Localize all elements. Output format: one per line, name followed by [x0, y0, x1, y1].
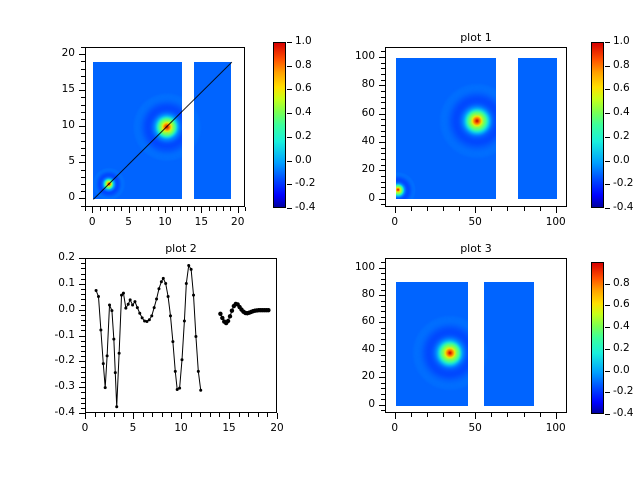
y-tick-minor: [81, 83, 85, 84]
y-tick-major: [379, 350, 385, 351]
y-tick-minor: [381, 361, 385, 362]
x-tick-major: [92, 207, 93, 213]
y-tick-label: 0: [329, 398, 375, 410]
colorbar-tick: [605, 184, 610, 185]
line-marker: [153, 306, 156, 309]
line-marker: [129, 298, 132, 301]
x-tick-minor: [223, 207, 224, 211]
line-marker: [187, 264, 190, 267]
y-tick-minor: [381, 306, 385, 307]
colorbar-tick: [605, 392, 610, 393]
heatmap-block-bottom-right-1: [484, 282, 534, 405]
y-tick-minor: [81, 61, 85, 62]
colorbar-tick-label: 0.8: [295, 59, 312, 71]
x-tick-minor: [171, 413, 172, 417]
x-tick-minor: [524, 413, 525, 417]
line-marker: [183, 320, 186, 323]
y-tick-label: 60: [329, 315, 375, 327]
line-marker: [138, 312, 141, 315]
line-marker: [124, 307, 127, 310]
line-marker: [164, 282, 167, 285]
colorbar-tick: [605, 208, 610, 209]
y-tick-label: 0.1: [29, 277, 75, 289]
colorbar-tick-label: -0.2: [613, 177, 634, 189]
y-tick-major: [79, 126, 85, 127]
x-tick-minor: [114, 413, 115, 417]
heatmap-block-top-left-1: [194, 62, 232, 199]
colorbar-tick: [605, 66, 610, 67]
y-tick-minor: [81, 305, 85, 306]
x-tick-major: [475, 413, 476, 419]
x-tick-minor: [239, 413, 240, 417]
y-tick-label: 0.0: [29, 303, 75, 315]
line-marker: [174, 370, 177, 373]
line-series-canvas: [86, 259, 277, 413]
x-tick-label: 100: [536, 422, 576, 434]
x-tick-minor: [507, 413, 508, 417]
heatmap-block-top-right-0: [396, 58, 496, 200]
colorbar-tick: [605, 305, 610, 306]
x-tick-minor: [143, 207, 144, 211]
y-tick-minor: [381, 273, 385, 274]
line-marker: [104, 386, 107, 389]
y-tick-label: 0: [329, 192, 375, 204]
x-tick-minor: [143, 413, 144, 417]
x-tick-major: [395, 413, 396, 419]
x-tick-minor: [524, 207, 525, 211]
y-tick-label: 20: [329, 163, 375, 175]
colorbar-tick-label: -0.2: [613, 385, 634, 397]
colorbar-tick: [605, 327, 610, 328]
x-tick-minor: [443, 413, 444, 417]
line-marker: [150, 314, 153, 317]
line-marker: [122, 292, 125, 295]
y-tick-major: [379, 322, 385, 323]
x-tick-minor: [411, 413, 412, 417]
y-tick-minor: [381, 290, 385, 291]
y-tick-minor: [381, 355, 385, 356]
x-tick-minor: [172, 207, 173, 211]
x-tick-minor: [152, 413, 153, 417]
x-tick-minor: [180, 207, 181, 211]
line-marker: [199, 389, 202, 392]
colorbar-tick: [287, 184, 292, 185]
x-tick-minor: [100, 207, 101, 211]
x-tick-minor: [248, 413, 249, 417]
y-tick-minor: [381, 80, 385, 81]
y-tick-minor: [381, 328, 385, 329]
axes-frame-bottom-right: [385, 258, 567, 413]
y-tick-minor: [381, 148, 385, 149]
colorbar-tick-label: 1.0: [295, 35, 312, 47]
colorbar-tick: [605, 113, 610, 114]
x-tick-minor: [194, 207, 195, 211]
line-marker: [131, 303, 134, 306]
colorbar-tick-label: 0.2: [613, 342, 630, 354]
y-tick-minor: [81, 69, 85, 70]
y-tick-label: 20: [329, 370, 375, 382]
line-marker: [181, 358, 184, 361]
y-tick-minor: [81, 206, 85, 207]
colorbar-tick: [287, 208, 292, 209]
y-tick-minor: [381, 108, 385, 109]
y-tick-label: 80: [329, 78, 375, 90]
y-tick-major: [79, 162, 85, 163]
x-tick-minor: [459, 207, 460, 211]
colorbar-tick-label: -0.4: [613, 201, 634, 213]
colorbar-tick: [605, 137, 610, 138]
y-tick-major: [379, 170, 385, 171]
line-marker: [114, 371, 117, 374]
y-tick-label: 80: [329, 288, 375, 300]
y-tick-label: 0.2: [29, 251, 75, 263]
line-marker: [160, 280, 163, 283]
y-tick-minor: [381, 262, 385, 263]
colorbar-tick-label: -0.4: [613, 407, 634, 419]
axes-frame-bottom-left: [85, 258, 277, 413]
axes-frame-top-left: [85, 47, 245, 207]
line-marker: [230, 308, 234, 312]
x-tick-minor: [210, 413, 211, 417]
y-tick-minor: [81, 315, 85, 316]
line-marker: [266, 308, 270, 312]
figure-canvas: 0510152005101520-0.4-0.20.00.20.40.60.81…: [0, 0, 640, 480]
x-tick-minor: [459, 413, 460, 417]
y-tick-minor: [381, 344, 385, 345]
x-tick-minor: [136, 207, 137, 211]
line-marker: [171, 340, 174, 343]
y-tick-minor: [381, 279, 385, 280]
y-tick-label: -0.3: [29, 380, 75, 392]
line-marker: [194, 335, 197, 338]
x-tick-label: 20: [257, 422, 297, 434]
x-tick-major: [238, 207, 239, 213]
x-tick-minor: [187, 207, 188, 211]
x-tick-label: 0: [65, 422, 105, 434]
x-tick-minor: [85, 207, 86, 211]
line-marker: [226, 319, 230, 323]
x-tick-label: 0: [375, 216, 415, 228]
y-tick-minor: [381, 339, 385, 340]
line-marker: [118, 352, 121, 355]
line-marker: [108, 303, 111, 306]
line-marker: [228, 314, 232, 318]
x-tick-minor: [411, 207, 412, 211]
line-marker: [110, 309, 113, 312]
heatmap-block-bottom-right-0: [396, 282, 468, 405]
y-tick-minor: [81, 351, 85, 352]
colorbar-tick-label: 0.0: [295, 154, 312, 166]
colorbar-tick: [605, 349, 610, 350]
y-tick-minor: [381, 366, 385, 367]
y-tick-minor: [81, 367, 85, 368]
y-tick-minor: [381, 131, 385, 132]
y-tick-minor: [381, 97, 385, 98]
y-tick-minor: [381, 165, 385, 166]
x-tick-label: 10: [145, 216, 185, 228]
x-tick-label: 5: [109, 216, 149, 228]
x-tick-minor: [104, 413, 105, 417]
x-tick-minor: [219, 413, 220, 417]
y-tick-major: [379, 377, 385, 378]
y-tick-major: [79, 413, 85, 414]
colorbar-tick-label: 0.4: [613, 320, 630, 332]
x-tick-major: [395, 207, 396, 213]
y-tick-minor: [81, 184, 85, 185]
x-tick-minor: [121, 207, 122, 211]
y-tick-minor: [381, 317, 385, 318]
x-tick-label: 15: [181, 216, 221, 228]
x-tick-minor: [209, 207, 210, 211]
colorbar-top-right: [591, 42, 604, 208]
y-tick-major: [379, 114, 385, 115]
line-marker: [178, 387, 181, 390]
y-tick-minor: [381, 125, 385, 126]
x-tick-major: [229, 413, 230, 419]
y-tick-major: [79, 198, 85, 199]
x-tick-label: 10: [161, 422, 201, 434]
x-tick-major: [201, 207, 202, 213]
y-tick-minor: [81, 119, 85, 120]
y-tick-minor: [381, 187, 385, 188]
y-tick-minor: [81, 268, 85, 269]
y-tick-label: -0.2: [29, 354, 75, 366]
y-tick-minor: [81, 141, 85, 142]
y-tick-major: [379, 85, 385, 86]
x-tick-minor: [540, 413, 541, 417]
y-tick-minor: [381, 410, 385, 411]
line-marker: [197, 370, 200, 373]
line-marker: [155, 298, 158, 301]
y-tick-minor: [81, 372, 85, 373]
colorbar-tick-label: 0.2: [295, 130, 312, 142]
y-tick-minor: [81, 76, 85, 77]
heatmap-background: [518, 58, 557, 200]
y-tick-minor: [381, 91, 385, 92]
y-tick-minor: [81, 398, 85, 399]
y-tick-label: -0.1: [29, 329, 75, 341]
y-tick-minor: [81, 148, 85, 149]
line-marker: [127, 303, 130, 306]
y-tick-label: 40: [329, 343, 375, 355]
colorbar-tick: [605, 161, 610, 162]
y-tick-major: [379, 405, 385, 406]
line-marker: [185, 282, 188, 285]
line-marker: [106, 354, 109, 357]
y-tick-minor: [81, 274, 85, 275]
y-tick-label: 10: [29, 119, 75, 131]
colorbar-tick: [287, 161, 292, 162]
axes-frame-top-right: [385, 47, 567, 207]
x-tick-label: 20: [218, 216, 258, 228]
x-tick-minor: [123, 413, 124, 417]
colorbar-tick: [605, 284, 610, 285]
y-tick-major: [379, 295, 385, 296]
x-tick-major: [277, 413, 278, 419]
y-tick-label: 100: [329, 261, 375, 273]
x-tick-minor: [107, 207, 108, 211]
colorbar-top-left: [273, 42, 286, 208]
y-tick-minor: [81, 356, 85, 357]
y-tick-major: [79, 310, 85, 311]
x-tick-minor: [427, 207, 428, 211]
line-marker: [136, 306, 139, 309]
colorbar-tick: [287, 42, 292, 43]
x-tick-minor: [258, 413, 259, 417]
y-tick-minor: [381, 311, 385, 312]
x-tick-major: [556, 207, 557, 213]
colorbar-tick-label: -0.2: [295, 177, 316, 189]
y-tick-label: 15: [29, 83, 75, 95]
x-tick-major: [181, 413, 182, 419]
plot-title-top-right: plot 1: [385, 31, 567, 44]
colorbar-tick-label: 0.6: [613, 82, 630, 94]
x-tick-label: 50: [455, 216, 495, 228]
colorbar-tick-label: 0.4: [295, 106, 312, 118]
colorbar-tick-label: 0.0: [613, 154, 630, 166]
y-tick-major: [79, 336, 85, 337]
y-tick-minor: [81, 392, 85, 393]
y-tick-minor: [81, 112, 85, 113]
x-tick-minor: [507, 207, 508, 211]
y-tick-minor: [81, 47, 85, 48]
y-tick-label: 0: [29, 191, 75, 203]
colorbar-tick: [287, 137, 292, 138]
y-tick-minor: [381, 399, 385, 400]
y-tick-minor: [381, 284, 385, 285]
y-tick-major: [379, 268, 385, 269]
colorbar-tick-label: 0.8: [613, 59, 630, 71]
x-tick-minor: [491, 207, 492, 211]
line-marker: [97, 295, 100, 298]
x-tick-minor: [267, 413, 268, 417]
y-tick-minor: [81, 346, 85, 347]
x-tick-minor: [150, 207, 151, 211]
x-tick-label: 0: [375, 422, 415, 434]
y-tick-minor: [381, 74, 385, 75]
x-tick-label: 0: [72, 216, 112, 228]
y-tick-major: [379, 57, 385, 58]
x-tick-minor: [245, 207, 246, 211]
colorbar-tick-label: 1.0: [613, 35, 630, 47]
line-marker: [95, 289, 98, 292]
x-tick-label: 50: [455, 422, 495, 434]
y-tick-minor: [81, 177, 85, 178]
x-tick-minor: [491, 413, 492, 417]
y-tick-minor: [381, 301, 385, 302]
colorbar-tick-label: 0.0: [613, 364, 630, 376]
y-tick-minor: [81, 294, 85, 295]
y-tick-minor: [381, 193, 385, 194]
y-tick-minor: [381, 153, 385, 154]
colorbar-tick: [605, 42, 610, 43]
y-tick-major: [79, 258, 85, 259]
y-tick-minor: [381, 394, 385, 395]
line-marker: [157, 287, 160, 290]
y-tick-major: [79, 90, 85, 91]
y-tick-minor: [381, 204, 385, 205]
colorbar-tick: [605, 371, 610, 372]
y-tick-minor: [81, 97, 85, 98]
y-tick-minor: [81, 408, 85, 409]
x-tick-minor: [158, 207, 159, 211]
x-tick-minor: [540, 207, 541, 211]
y-tick-minor: [81, 403, 85, 404]
plot-title-bottom-right: plot 3: [385, 242, 567, 255]
line-marker: [190, 268, 193, 271]
x-tick-major: [556, 413, 557, 419]
y-tick-minor: [381, 383, 385, 384]
colorbar-tick-label: 0.4: [613, 106, 630, 118]
y-tick-label: 100: [329, 50, 375, 62]
x-tick-label: 100: [536, 216, 576, 228]
line-marker: [145, 320, 148, 323]
x-tick-minor: [200, 413, 201, 417]
y-tick-minor: [81, 330, 85, 331]
x-tick-minor: [95, 413, 96, 417]
colorbar-tick-label: 0.2: [613, 130, 630, 142]
y-tick-label: -0.4: [29, 406, 75, 418]
y-tick-major: [79, 284, 85, 285]
y-tick-minor: [81, 377, 85, 378]
colorbar-tick: [605, 89, 610, 90]
heatmap-block-top-right-1: [518, 58, 557, 200]
colorbar-tick: [605, 414, 610, 415]
y-tick-label: 60: [329, 107, 375, 119]
y-tick-minor: [381, 136, 385, 137]
heatmap-background: [484, 282, 534, 405]
x-tick-minor: [216, 207, 217, 211]
y-tick-minor: [381, 102, 385, 103]
x-tick-label: 15: [209, 422, 249, 434]
line-marker: [99, 329, 102, 332]
y-tick-major: [79, 387, 85, 388]
y-tick-minor: [381, 51, 385, 52]
line-marker: [162, 277, 165, 280]
y-tick-minor: [381, 176, 385, 177]
y-tick-minor: [81, 299, 85, 300]
line-path-segment-1: [96, 265, 201, 406]
x-tick-minor: [230, 207, 231, 211]
x-tick-major: [85, 413, 86, 419]
line-marker: [167, 295, 170, 298]
line-marker: [148, 318, 151, 321]
y-tick-minor: [81, 170, 85, 171]
y-tick-label: 20: [29, 47, 75, 59]
y-tick-label: 40: [329, 135, 375, 147]
x-tick-label: 5: [113, 422, 153, 434]
line-marker: [192, 294, 195, 297]
y-tick-major: [79, 361, 85, 362]
y-tick-minor: [381, 182, 385, 183]
y-tick-minor: [381, 388, 385, 389]
x-tick-major: [129, 207, 130, 213]
x-tick-major: [133, 413, 134, 419]
y-tick-minor: [81, 341, 85, 342]
colorbar-tick-label: 0.8: [613, 277, 630, 289]
y-tick-minor: [381, 333, 385, 334]
y-tick-major: [379, 142, 385, 143]
y-tick-minor: [381, 159, 385, 160]
colorbar-tick-label: 0.6: [613, 298, 630, 310]
colorbar-tick: [287, 113, 292, 114]
line-marker: [112, 338, 115, 341]
y-tick-minor: [81, 191, 85, 192]
x-tick-minor: [427, 413, 428, 417]
y-tick-minor: [81, 155, 85, 156]
y-tick-minor: [81, 105, 85, 106]
x-tick-minor: [191, 413, 192, 417]
